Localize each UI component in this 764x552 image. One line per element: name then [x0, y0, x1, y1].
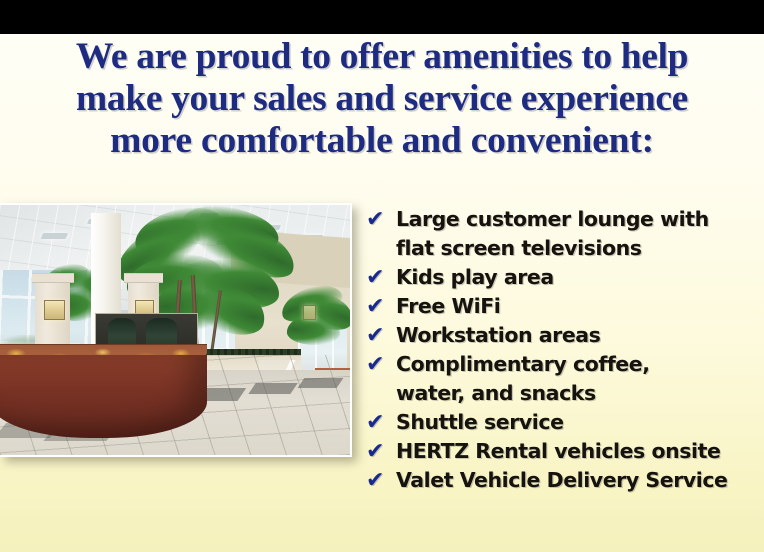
list-item-label: Shuttle service [396, 408, 764, 437]
list-item-label: Free WiFi [396, 292, 764, 321]
list-item-label: Valet Vehicle Delivery Service [396, 466, 764, 495]
list-item: ✔ Large customer lounge with flat screen… [366, 205, 764, 263]
check-icon: ✔ [366, 263, 396, 292]
photo-ceiling-light [41, 233, 68, 239]
list-item: ✔ Shuttle service [366, 408, 764, 437]
list-item-label: Kids play area [396, 263, 764, 292]
check-icon: ✔ [366, 205, 396, 234]
list-item: ✔ Kids play area [366, 263, 764, 292]
amenities-list: ✔ Large customer lounge with flat screen… [366, 205, 764, 495]
list-item: ✔ Complimentary coffee, water, and snack… [366, 350, 764, 408]
list-item: ✔ Workstation areas [366, 321, 764, 350]
list-item-label: Workstation areas [396, 321, 764, 350]
list-item-label: Complimentary coffee, water, and snacks [396, 350, 764, 408]
slide-canvas: We are proud to offer amenities to help … [0, 0, 764, 552]
check-icon: ✔ [366, 408, 396, 437]
list-item: ✔ Valet Vehicle Delivery Service [366, 466, 764, 495]
list-item: ✔ Free WiFi [366, 292, 764, 321]
list-item: ✔ HERTZ Rental vehicles onsite [366, 437, 764, 466]
list-item-label: HERTZ Rental vehicles onsite [396, 437, 764, 466]
lobby-photo [0, 203, 352, 457]
letterbox-top-bar [0, 0, 764, 34]
photo-floor-dark-tile [248, 383, 298, 394]
check-icon: ✔ [366, 466, 396, 495]
lobby-photo-image [0, 205, 350, 455]
photo-floor-dark-tile [298, 378, 343, 388]
photo-reception-desk [0, 355, 207, 438]
page-title-line-3: more comfortable and convenient: [4, 120, 760, 162]
check-icon: ✔ [366, 292, 396, 321]
photo-wall-sconce [303, 305, 316, 320]
list-item-label: Large customer lounge with flat screen t… [396, 205, 764, 263]
page-title: We are proud to offer amenities to help … [0, 36, 764, 162]
page-title-line-1: We are proud to offer amenities to help [4, 36, 760, 78]
check-icon: ✔ [366, 437, 396, 466]
check-icon: ✔ [366, 350, 396, 379]
photo-pillar-cap-left [32, 273, 74, 283]
photo-wall-sconce [44, 300, 65, 320]
check-icon: ✔ [366, 321, 396, 350]
page-title-line-2: make your sales and service experience [4, 78, 760, 120]
photo-pillar-cap-right [124, 273, 163, 283]
